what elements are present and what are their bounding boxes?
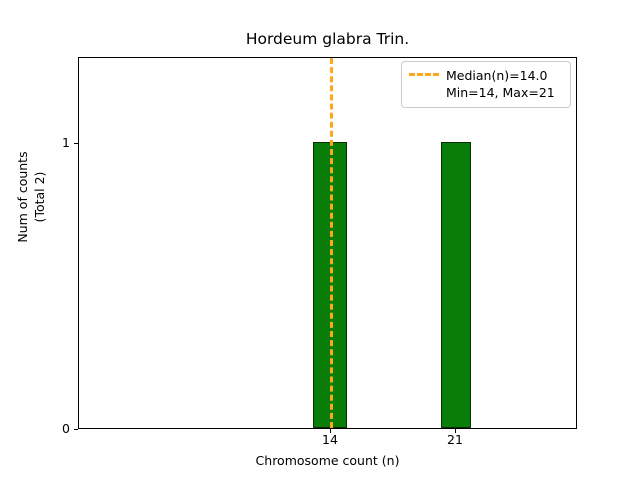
x-axis-label: Chromosome count (n) <box>78 453 577 468</box>
y-axis-label: Num of counts (Total 2) <box>14 57 48 337</box>
legend: Median(n)=14.0 Min=14, Max=21 <box>401 61 571 108</box>
y-tick-mark-0 <box>74 429 78 430</box>
y-tick-label-1: 1 <box>48 137 70 149</box>
chart-figure: Hordeum glabra Trin. Num of counts (Tota… <box>0 0 640 480</box>
legend-dashed-line-icon <box>409 67 439 82</box>
legend-label: Median(n)=14.0 Min=14, Max=21 <box>446 67 555 101</box>
bar-21[interactable] <box>441 142 471 428</box>
x-tick-label-21: 21 <box>425 433 485 447</box>
y-tick-label-0: 0 <box>48 423 70 435</box>
plot-area: Median(n)=14.0 Min=14, Max=21 <box>78 57 577 429</box>
median-line <box>330 58 333 428</box>
chart-title: Hordeum glabra Trin. <box>78 30 577 48</box>
x-tick-label-14: 14 <box>300 433 360 447</box>
